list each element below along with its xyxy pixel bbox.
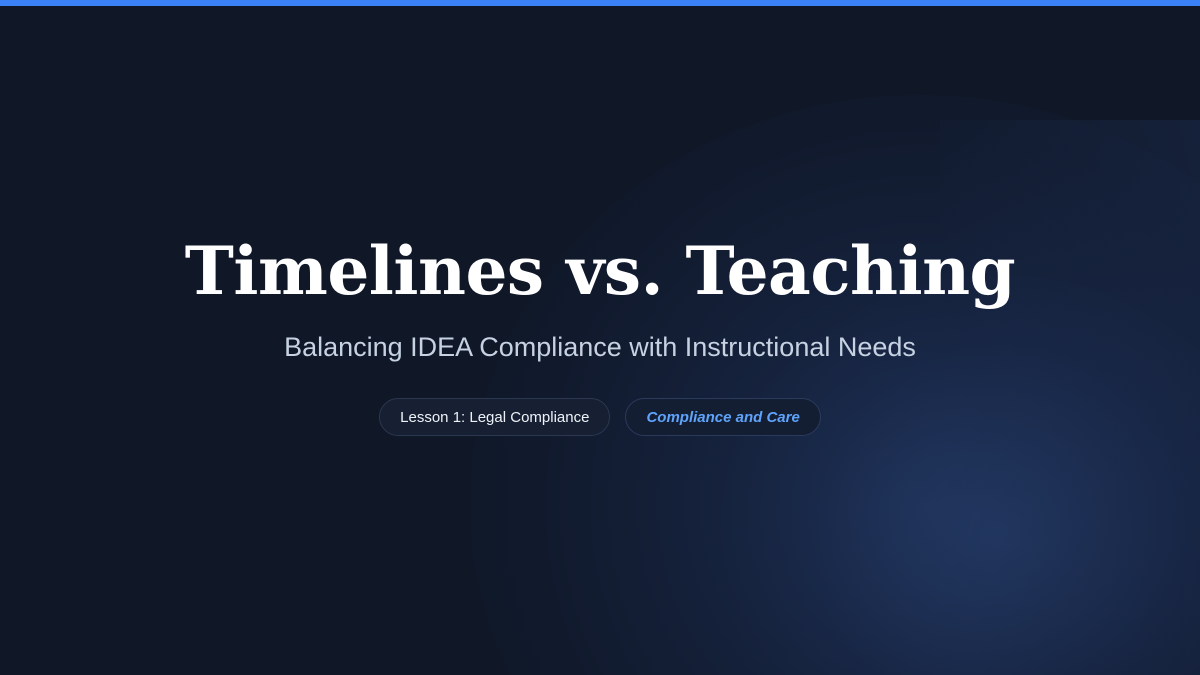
title-slide: Timelines vs. Teaching Balancing IDEA Co… bbox=[0, 0, 1200, 675]
badge-lesson: Lesson 1: Legal Compliance bbox=[379, 398, 610, 436]
slide-title: Timelines vs. Teaching bbox=[185, 238, 1015, 304]
badge-topic: Compliance and Care bbox=[625, 398, 820, 436]
slide-subtitle: Balancing IDEA Compliance with Instructi… bbox=[284, 331, 916, 363]
slide-content: Timelines vs. Teaching Balancing IDEA Co… bbox=[0, 0, 1200, 675]
badge-row: Lesson 1: Legal Compliance Compliance an… bbox=[379, 398, 821, 436]
